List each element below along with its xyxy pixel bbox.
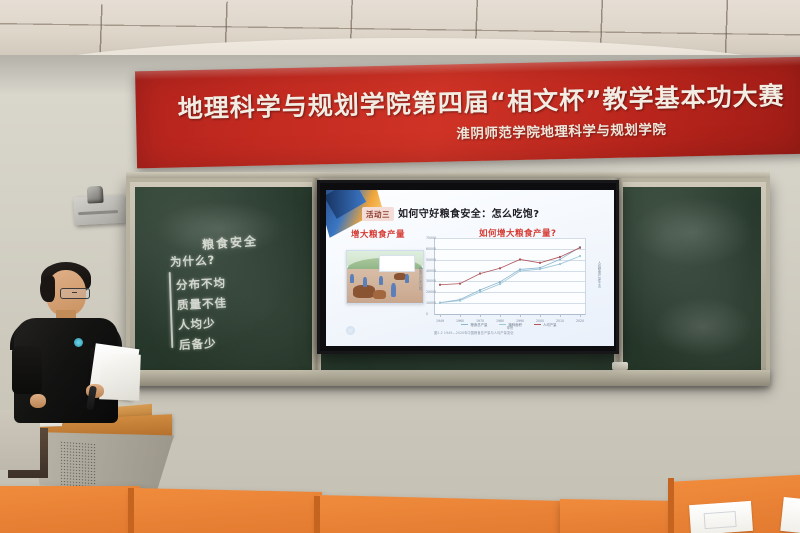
- desk-paper: [780, 497, 800, 533]
- chart-marker: [579, 247, 581, 249]
- student-desk: [132, 488, 322, 533]
- farmer-figure: [363, 277, 367, 287]
- chart-marker: [439, 284, 441, 286]
- legend-item: 播种面积: [499, 322, 522, 327]
- lectern-speaker-mesh: [60, 441, 96, 492]
- student-desk: [0, 486, 140, 533]
- farmer-figure: [391, 283, 396, 297]
- chart-xtick: [580, 314, 581, 317]
- presenter-papers: [99, 353, 141, 400]
- chart-marker: [499, 267, 501, 269]
- chart-xtick: [480, 314, 481, 317]
- wall-camera: [73, 195, 126, 226]
- chalk-point-2: 质量不佳: [177, 295, 228, 314]
- camera-lens-icon: [87, 186, 104, 204]
- paper-printed-box: [704, 511, 737, 529]
- activity-badge: 活动三: [362, 207, 394, 221]
- legend-item: 粮食总产量: [461, 322, 487, 327]
- presenter-hair-side: [40, 276, 55, 302]
- blackboard-panel-right: [623, 187, 761, 375]
- chart-xtick: [500, 314, 501, 317]
- slide-decorative-dot: [346, 326, 355, 335]
- chart-marker: [559, 258, 561, 260]
- chalk-tray: [126, 370, 770, 386]
- student-desk: [560, 499, 680, 533]
- chalk-point-1: 分布不均: [176, 275, 227, 294]
- chart-marker: [479, 289, 481, 291]
- chart-xtick: [520, 314, 521, 317]
- chart-marker: [479, 273, 481, 275]
- presentation-slide: 活动三 如何守好粮食安全：怎么吃饱? 增大粮食产量 如何增大粮食产量?: [326, 190, 614, 346]
- chart-marker: [519, 270, 521, 272]
- chart-marker: [539, 262, 541, 264]
- chart-xtick: [440, 314, 441, 317]
- legend-marker: [534, 324, 541, 325]
- presenter-sleeve-left: [12, 346, 42, 394]
- chart-marker: [499, 281, 501, 283]
- chalk-point-3: 人均少: [178, 315, 216, 333]
- chart-caption: 图2-2 1949—2020年中国粮食总产量与人均产量变化: [434, 330, 604, 335]
- chart-marker: [539, 268, 541, 270]
- slide-title: 如何守好粮食安全：怎么吃饱?: [398, 205, 539, 220]
- presenter: [8, 258, 128, 423]
- blackboard-panel-left: [135, 187, 323, 375]
- chart-line-0: [440, 247, 580, 303]
- farmer-figure: [405, 274, 409, 283]
- chart-marker: [559, 263, 561, 265]
- chalk-point-4: 后备少: [179, 335, 217, 353]
- chart-marker: [559, 256, 561, 258]
- slide-heading-left: 增大粮食产量: [351, 228, 405, 240]
- chart-xtick: [540, 314, 541, 317]
- desk-edge: [314, 496, 320, 533]
- chart-ylabel: 粮食总产量/万吨: [418, 267, 423, 290]
- chalk-smudge: [633, 197, 753, 267]
- legend-item: 人均产量: [534, 322, 557, 327]
- legend-label: 粮食总产量: [470, 322, 487, 327]
- ox-icon: [373, 290, 386, 299]
- legend-marker: [461, 324, 468, 325]
- farmer-figure: [379, 276, 383, 285]
- chart-ytick-label: 0: [426, 312, 428, 316]
- illustration-label-box: [379, 255, 415, 272]
- desk-paper: [689, 501, 753, 533]
- projector-display[interactable]: 活动三 如何守好粮食安全：怎么吃饱? 增大粮食产量 如何增大粮食产量?: [317, 180, 619, 354]
- lectern-body: [34, 432, 174, 490]
- chart-marker: [499, 283, 501, 285]
- legend-marker: [499, 324, 506, 325]
- desk-edge: [668, 478, 674, 533]
- chart-marker: [519, 258, 521, 260]
- chart-legend: 粮食总产量播种面积人均产量: [434, 322, 584, 327]
- chart-y2label: 人均粮食产量/千克: [597, 261, 602, 288]
- camera-body-slot: [78, 210, 118, 215]
- classroom-scene: 地理科学与规划学院第四届“相文杯”教学基本功大赛 淮阴师范学院地理科学与规划学院…: [0, 0, 800, 533]
- chart-series-layer: [435, 238, 585, 314]
- farmer-figure: [350, 274, 354, 283]
- chart-marker: [479, 291, 481, 293]
- chart-marker: [459, 300, 461, 302]
- desk-edge: [128, 488, 134, 533]
- chart-marker: [579, 255, 581, 257]
- chalk-smudge: [653, 297, 753, 357]
- chart-xtick: [560, 314, 561, 317]
- chart-gridline: [435, 314, 585, 315]
- event-banner: 地理科学与规划学院第四届“相文杯”教学基本功大赛 淮阴师范学院地理科学与规划学院: [135, 57, 800, 169]
- chart-line-2: [440, 248, 580, 285]
- line-chart: 粮食总产量/万吨 人均粮食产量/千克 年份 010000200003000040…: [434, 238, 586, 315]
- legend-label: 播种面积: [508, 322, 522, 327]
- chart-xtick: [460, 314, 461, 317]
- chart-marker: [439, 302, 441, 304]
- presenter-hand-left: [30, 394, 46, 408]
- legend-label: 人均产量: [543, 322, 557, 327]
- glasses-icon: [60, 288, 90, 299]
- farming-illustration: [346, 250, 424, 304]
- blackboard-eraser: [612, 362, 628, 370]
- chart-marker: [459, 283, 461, 285]
- shirt-logo: [74, 338, 83, 347]
- student-desk: [318, 495, 568, 533]
- chalk-question: 为什么?: [170, 252, 216, 270]
